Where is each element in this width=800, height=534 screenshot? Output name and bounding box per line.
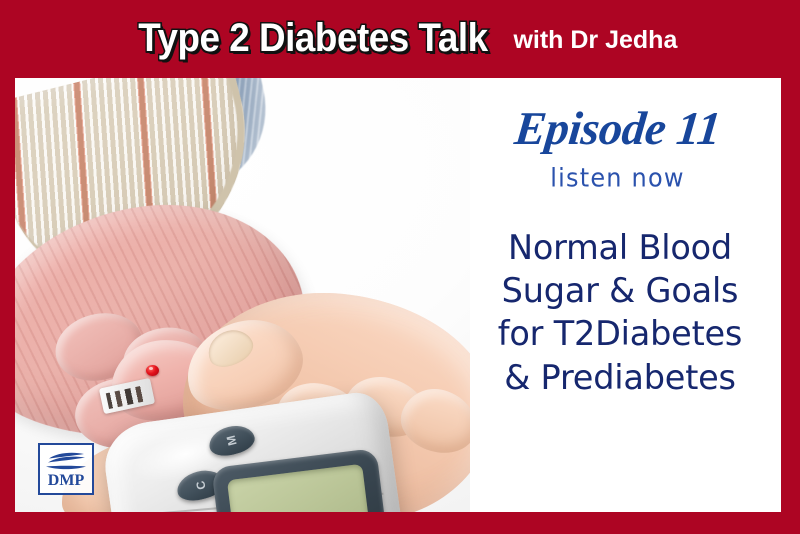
dmp-logo: DMP bbox=[38, 443, 94, 495]
glucose-test-photo: M C DMP bbox=[15, 78, 470, 512]
episode-title-line-2: Sugar & Goals bbox=[470, 269, 770, 312]
show-title: Type 2 Diabetes Talk bbox=[138, 16, 487, 61]
episode-title-line-1: Normal Blood bbox=[470, 226, 770, 269]
episode-text-panel: Episode 11 listen now Normal Blood Sugar… bbox=[470, 78, 781, 512]
blood-drop-highlight bbox=[149, 367, 153, 370]
dmp-logo-text: DMP bbox=[48, 473, 84, 489]
dmp-wave-mark bbox=[44, 450, 88, 472]
episode-title-line-3: for T2Diabetes bbox=[470, 312, 770, 355]
meter-memory-button-label: M bbox=[224, 434, 240, 447]
episode-title-line-4: & Prediabetes bbox=[470, 356, 770, 399]
podcast-episode-banner: Type 2 Diabetes Talk with Dr Jedha bbox=[0, 0, 800, 534]
meter-lcd-display bbox=[227, 464, 373, 512]
content-card: M C DMP Episode bbox=[15, 78, 781, 512]
meter-screen-bezel bbox=[211, 448, 390, 512]
host-name: with Dr Jedha bbox=[513, 26, 677, 55]
meter-power-button-label: C bbox=[193, 479, 209, 491]
episode-title: Normal Blood Sugar & Goals for T2Diabete… bbox=[470, 226, 770, 399]
listen-now-label[interactable]: listen now bbox=[470, 163, 765, 193]
banner-header: Type 2 Diabetes Talk with Dr Jedha bbox=[0, 0, 800, 78]
episode-number-label: Episode 11 bbox=[468, 106, 768, 153]
